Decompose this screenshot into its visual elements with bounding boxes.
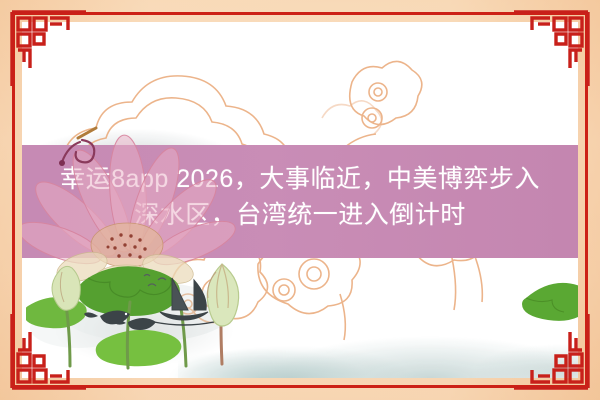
corner-ornament-top-left-icon xyxy=(10,10,88,88)
corner-ornament-bottom-right-icon xyxy=(512,312,590,390)
corner-ornament-bottom-left-icon xyxy=(10,312,88,390)
inner-red-border xyxy=(12,12,588,388)
corner-ornament-top-right-icon xyxy=(512,10,590,88)
poster-image: 幸运8app 2026，大事临近，中美博弈步入 深水区，台湾统一进入倒计时 xyxy=(0,0,600,400)
